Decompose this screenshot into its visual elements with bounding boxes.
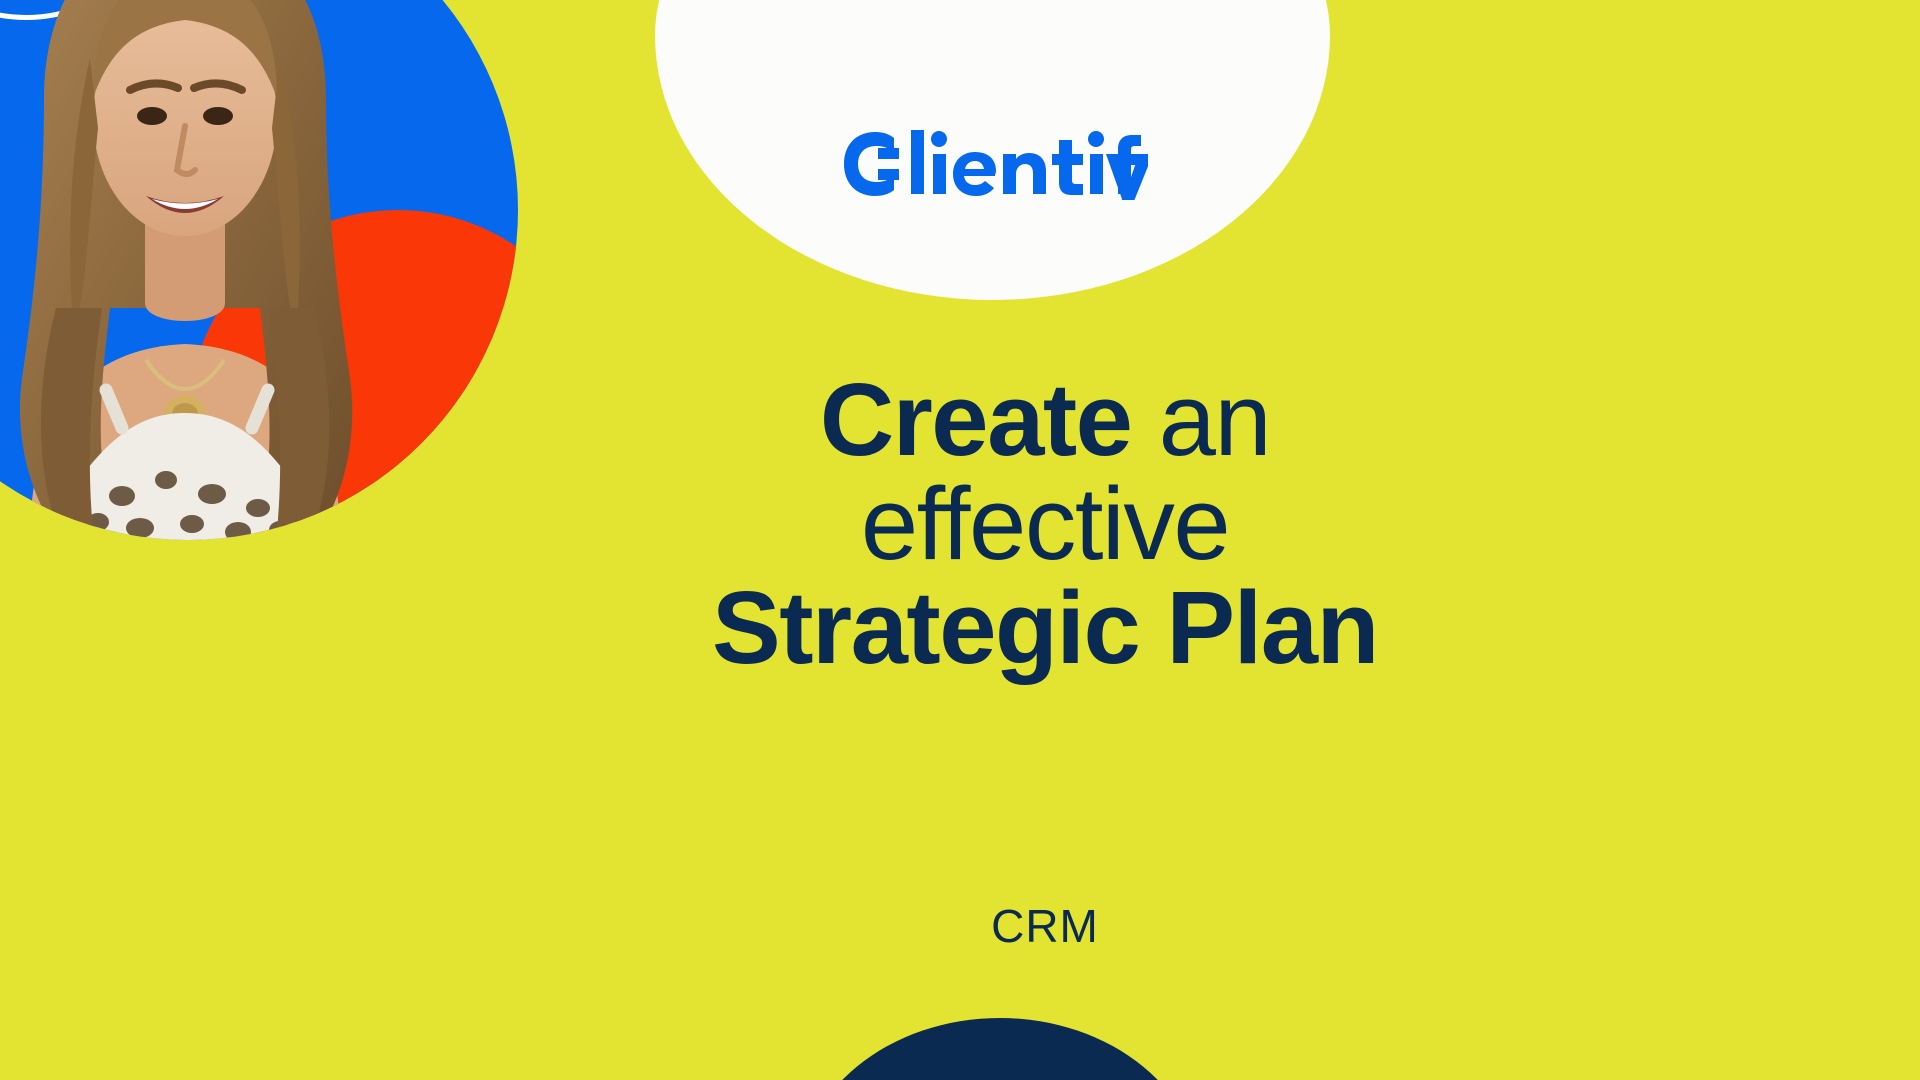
headline-line-2-light: effective — [861, 466, 1229, 581]
slide-canvas: Create an effective Strategic Plan CRM — [0, 0, 1920, 1080]
headline-line-1-light: an — [1159, 362, 1271, 477]
bottom-navy-ellipse-decor — [798, 1018, 1202, 1080]
presenter-photo-image — [0, 0, 400, 540]
brand-logo — [655, 0, 1330, 300]
headline-line-1: Create an — [540, 368, 1550, 472]
top-white-blob-decor — [655, 0, 1330, 300]
clientify-logo — [838, 128, 1148, 190]
headline: Create an effective Strategic Plan — [540, 368, 1550, 680]
headline-line-2: effective — [540, 472, 1550, 576]
headline-line-3-bold: Strategic Plan — [712, 570, 1378, 685]
headline-line-1-bold: Create — [820, 362, 1132, 477]
headline-line-3: Strategic Plan — [540, 576, 1550, 680]
presenter-avatar — [0, 0, 518, 540]
clientify-c-icon — [838, 128, 1148, 200]
subtitle-crm: CRM — [540, 899, 1550, 953]
